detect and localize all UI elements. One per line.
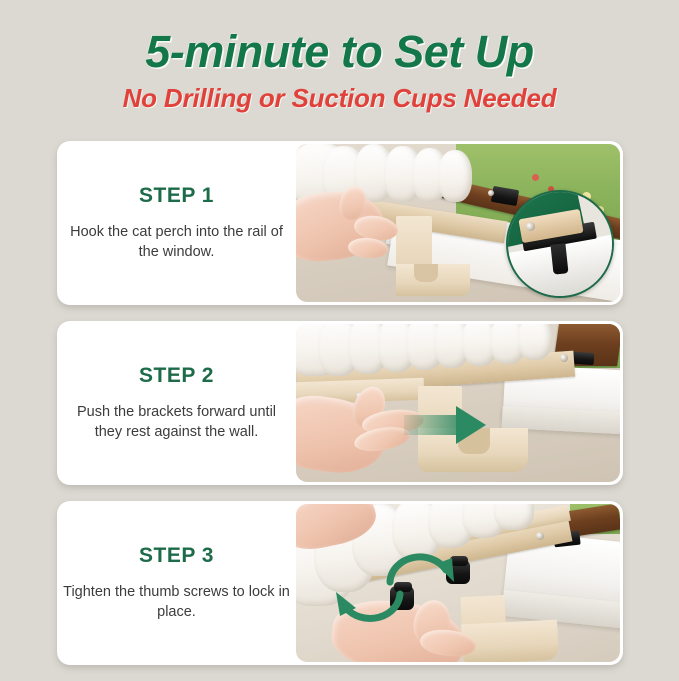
step-2-scene <box>296 324 620 482</box>
plush-cushion <box>438 150 472 202</box>
step-3-label: STEP 3 <box>139 544 214 568</box>
step-2-description: Push the brackets forward until they res… <box>63 402 290 442</box>
flower-dot <box>532 174 539 181</box>
step-3-text-block: STEP 3 Tighten the thumb screws to lock … <box>57 501 296 665</box>
header: 5-minute to Set Up No Drilling or Suctio… <box>0 0 679 114</box>
arrow-tail <box>404 415 460 435</box>
step-2-label: STEP 2 <box>139 364 214 388</box>
page-title: 5-minute to Set Up <box>0 28 679 75</box>
arrow-head <box>456 406 486 444</box>
steps-list: STEP 1 Hook the cat perch into the rail … <box>57 141 623 681</box>
plush-cushion <box>518 324 552 360</box>
step-3-scene <box>296 504 620 662</box>
inset-hook <box>550 243 568 274</box>
rotation-arrow-lower-svg <box>330 578 408 626</box>
detail-inset-circle <box>506 190 614 298</box>
step-1-text-block: STEP 1 Hook the cat perch into the rail … <box>57 141 296 305</box>
step-card-2: STEP 2 Push the brackets forward until t… <box>57 321 623 485</box>
step-3-photo <box>296 504 620 662</box>
infographic-page: { "header": { "title": "5-minute to Set … <box>0 0 679 679</box>
frame-screw <box>560 354 568 362</box>
step-1-photo <box>296 144 620 302</box>
step-3-description: Tighten the thumb screws to lock in plac… <box>63 582 290 622</box>
rotation-arrow-lower <box>330 578 408 626</box>
step-1-description: Hook the cat perch into the rail of the … <box>63 222 290 262</box>
step-1-label: STEP 1 <box>139 184 214 208</box>
perch-hook-foot <box>461 620 559 662</box>
step-2-photo <box>296 324 620 482</box>
step-card-1: STEP 1 Hook the cat perch into the rail … <box>57 141 623 305</box>
page-subtitle: No Drilling or Suction Cups Needed <box>0 83 679 114</box>
step-2-text-block: STEP 2 Push the brackets forward until t… <box>57 321 296 485</box>
push-direction-arrow <box>404 406 490 444</box>
step-1-scene <box>296 144 620 302</box>
frame-screw <box>488 190 494 196</box>
perch-hook-notch <box>414 264 438 282</box>
frame-screw <box>536 532 544 540</box>
step-card-3: STEP 3 Tighten the thumb screws to lock … <box>57 501 623 665</box>
